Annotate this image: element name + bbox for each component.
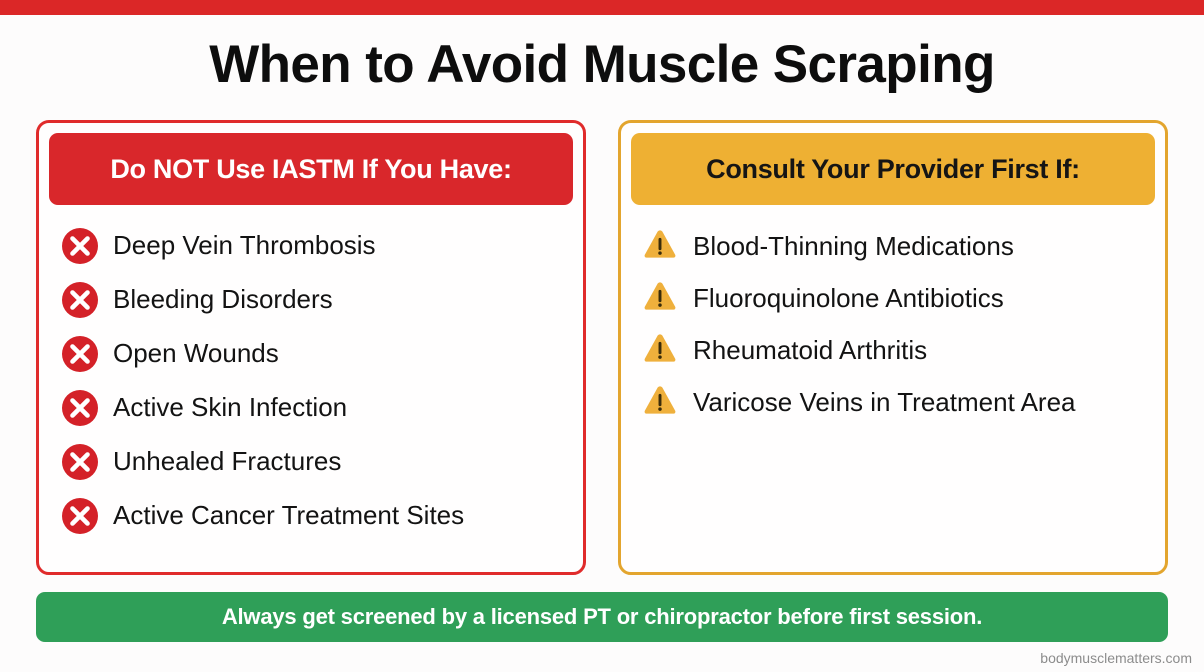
circle-x-icon xyxy=(61,389,99,427)
panel-header-consult-provider: Consult Your Provider First If: xyxy=(631,133,1155,205)
list-item-label: Unhealed Fractures xyxy=(113,443,341,480)
list-item: Rheumatoid Arthritis xyxy=(643,331,1151,369)
panel-consult-provider: Consult Your Provider First If: Blood-Th… xyxy=(618,120,1168,575)
list-item: Active Cancer Treatment Sites xyxy=(61,497,569,535)
page-title: When to Avoid Muscle Scraping xyxy=(0,36,1204,93)
list-item-label: Rheumatoid Arthritis xyxy=(693,331,927,369)
list-item-label: Active Cancer Treatment Sites xyxy=(113,497,464,534)
footer-banner: Always get screened by a licensed PT or … xyxy=(36,592,1168,642)
list-item: Deep Vein Thrombosis xyxy=(61,227,569,265)
contraindication-list: Deep Vein Thrombosis Bleeding Disorders … xyxy=(49,205,573,562)
list-item-label: Fluoroquinolone Antibiotics xyxy=(693,279,1004,317)
circle-x-icon xyxy=(61,227,99,265)
list-item: Fluoroquinolone Antibiotics xyxy=(643,279,1151,317)
list-item: Active Skin Infection xyxy=(61,389,569,427)
panel-do-not-use: Do NOT Use IASTM If You Have: Deep Vein … xyxy=(36,120,586,575)
warning-triangle-icon xyxy=(643,279,677,313)
watermark: bodymusclematters.com xyxy=(1040,650,1192,666)
circle-x-icon xyxy=(61,281,99,319)
circle-x-icon xyxy=(61,497,99,535)
list-item: Unhealed Fractures xyxy=(61,443,569,481)
list-item-label: Varicose Veins in Treatment Area xyxy=(693,383,1076,421)
panel-header-do-not-use: Do NOT Use IASTM If You Have: xyxy=(49,133,573,205)
panels-row: Do NOT Use IASTM If You Have: Deep Vein … xyxy=(36,120,1168,575)
list-item: Open Wounds xyxy=(61,335,569,373)
top-accent-bar xyxy=(0,0,1204,15)
list-item-label: Open Wounds xyxy=(113,335,279,372)
list-item: Varicose Veins in Treatment Area xyxy=(643,383,1151,421)
footer-banner-text: Always get screened by a licensed PT or … xyxy=(222,604,982,630)
list-item-label: Active Skin Infection xyxy=(113,389,347,426)
precaution-list: Blood-Thinning Medications Fluoroquinolo… xyxy=(631,205,1155,562)
list-item-label: Bleeding Disorders xyxy=(113,281,333,318)
circle-x-icon xyxy=(61,443,99,481)
warning-triangle-icon xyxy=(643,227,677,261)
warning-triangle-icon xyxy=(643,331,677,365)
warning-triangle-icon xyxy=(643,383,677,417)
circle-x-icon xyxy=(61,335,99,373)
list-item-label: Deep Vein Thrombosis xyxy=(113,227,376,264)
list-item: Bleeding Disorders xyxy=(61,281,569,319)
list-item: Blood-Thinning Medications xyxy=(643,227,1151,265)
list-item-label: Blood-Thinning Medications xyxy=(693,227,1014,265)
